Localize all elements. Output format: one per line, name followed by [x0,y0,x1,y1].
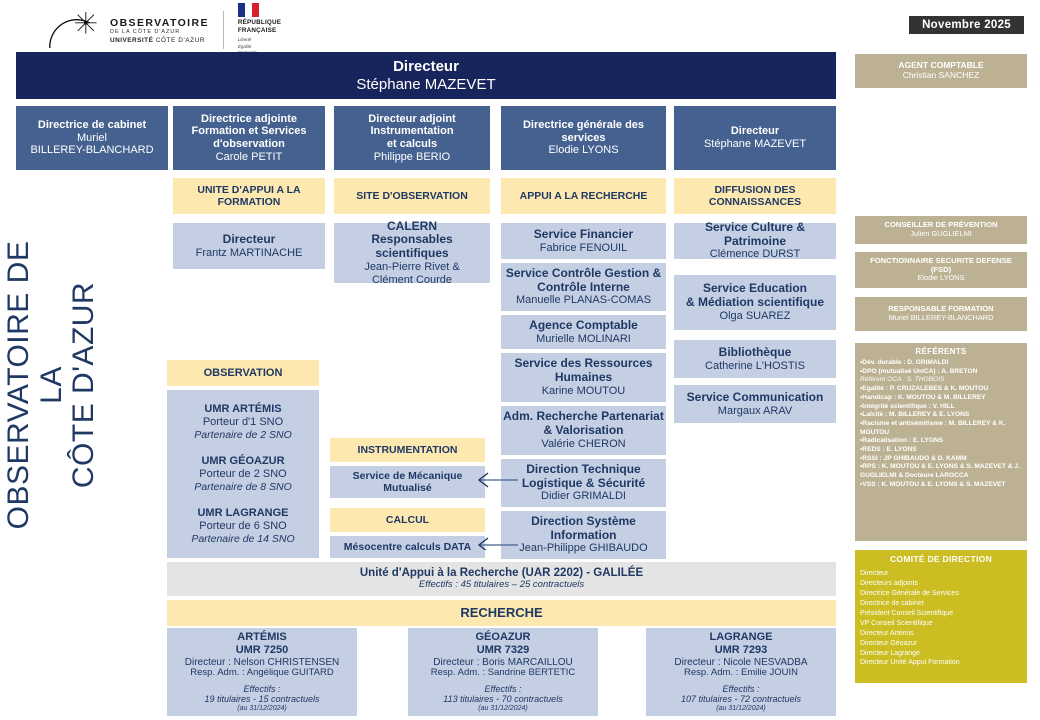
appui-recherche-header-label: APPUI A LA RECHERCHE [520,190,648,202]
director-role: Directeur [393,58,459,75]
diffusion-item-2: Bibliothèque Catherine L'HOSTIS [674,340,836,378]
lab-0-effectifs: 19 titulaires - 15 contractuels [204,694,319,704]
observation-header-label: OBSERVATION [204,367,283,380]
section-header-formation: UNITE D'APPUI A LA FORMATION [173,178,325,214]
formation-item-0: Directeur Frantz MARTINACHE [173,223,325,269]
lab-card-0: ARTÉMIS UMR 7250 Directeur : Nelson CHRI… [167,628,357,716]
observation-unit-2-name: UMR LAGRANGE [191,507,294,520]
observation-unit-0-partenaire: Partenaire de 2 SNO [194,429,291,441]
appui-item-5-sub: Didier GRIMALDI [541,490,626,503]
leadership-role-3: Directrice générale des services [523,119,644,144]
referents-title: RÉFÉRENTS [860,347,1022,356]
appui-item-3-title: Service des Ressources Humaines [514,357,652,385]
referent-line-10: •RSSI : JP GHIBAUDO & D. KAMM [860,455,1022,464]
diffusion-item-1-sub: Olga SUAREZ [720,310,791,323]
lab-2-effectifs-label: Effectifs : [722,684,759,694]
appui-item-1: Service Contrôle Gestion & Contrôle Inte… [501,263,666,311]
diffusion-item-3-sub: Margaux ARAV [718,405,792,418]
site-observation-header-label: SITE D'OBSERVATION [356,190,468,202]
lab-0-name: ARTÉMIS [237,631,287,644]
lab-0-umr: UMR 7250 [236,644,289,657]
lab-2-name: LAGRANGE [710,631,773,644]
comite-line-0: Directeur [860,569,1022,579]
responsable-formation-name: Muriel BILLEREY-BLANCHARD [889,314,994,323]
appui-item-6-title: Direction Système Information [531,515,636,543]
leadership-role-2: Directeur adjoint Instrumentation et cal… [368,113,455,151]
section-header-site-observation: SITE D'OBSERVATION [334,178,490,214]
leadership-card-3: Directrice générale des services Elodie … [501,106,666,170]
section-header-recherche: RECHERCHE [167,600,836,626]
calcul-header-label: CALCUL [386,514,429,526]
appui-item-2-sub: Murielle MOLINARI [536,333,631,346]
referent-line-4: •Handicap : K. MOUTOU & M. BILLEREY [860,394,1022,403]
comite-line-6: Directeur Artémis [860,629,1022,639]
institution-logo: OBSERVATOIRE DE LA CÔTE D'AZUR UNIVERSIT… [48,8,288,52]
referent-line-2: Référent OCA : S. THOBOIS [860,376,1022,385]
instrumentation-header-label: INSTRUMENTATION [358,444,458,456]
observation-unit-1-name: UMR GÉOAZUR [194,455,291,468]
uar-galilee-box: Unité d'Appui à la Recherche (UAR 2202) … [167,562,836,596]
section-header-observation: OBSERVATION [167,360,319,386]
observation-unit-1-porteur: Porteur de 2 SNO [194,468,291,481]
leadership-name-4: Stéphane MAZEVET [704,138,806,151]
diffusion-header-label: DIFFUSION DES CONNAISSANCES [709,184,801,208]
lab-0-date: (au 31/12/2024) [237,705,286,713]
diffusion-item-0-title: Service Culture & Patrimoine [674,221,836,249]
french-flag-icon [238,3,259,17]
recherche-header-label: RECHERCHE [460,606,542,621]
leadership-role-4: Directeur [731,125,779,138]
section-header-appui-recherche: APPUI A LA RECHERCHE [501,178,666,214]
diffusion-item-2-title: Bibliothèque [719,346,792,360]
lab-2-resp-adm: Resp. Adm. : Emilie JOUIN [684,668,798,679]
lab-2-date: (au 31/12/2024) [716,705,765,713]
section-header-calcul: CALCUL [330,508,485,532]
leadership-name-3: Elodie LYONS [548,144,618,157]
diffusion-item-2-sub: Catherine L'HOSTIS [705,360,805,373]
comite-line-5: VP Conseil Scientifique [860,619,1022,629]
comite-line-8: Directeur Lagrange [860,649,1022,659]
appui-item-6: Direction Système Information Jean-Phili… [501,511,666,559]
referent-line-8: •Radicalisation : E. LYONS [860,437,1022,446]
director-banner: Directeur Stéphane MAZEVET [16,52,836,99]
diffusion-item-1: Service Education & Médiation scientifiq… [674,275,836,330]
section-header-instrumentation: INSTRUMENTATION [330,438,485,462]
observation-unit-1: UMR GÉOAZUR Porteur de 2 SNO Partenaire … [194,455,291,492]
diffusion-item-3: Service Communication Margaux ARAV [674,385,836,423]
fsd-box: FONCTIONNAIRE SECURITE DEFENSE (FSD) Elo… [855,252,1027,288]
referent-line-3: •Egalité : P. CRUZALEBES & K. MOUTOU [860,385,1022,394]
leadership-role-1: Directrice adjointe Formation et Service… [192,113,307,151]
lab-0-effectifs-label: Effectifs : [243,684,280,694]
comite-line-1: Directeurs adjoints [860,579,1022,589]
appui-item-3-sub: Karine MOUTOU [542,385,626,398]
republique-francaise-logo: RÉPUBLIQUE FRANÇAISE Liberté Égalité Fra… [238,3,281,57]
conseiller-name: Julien GUGLIELMI [910,230,972,239]
referent-line-6: •Laïcité : M. BILLEREY & E. LYONS [860,411,1022,420]
referent-line-9: •REDS : E. LYONS [860,446,1022,455]
logo-divider [223,11,224,49]
lab-1-date: (au 31/12/2024) [478,705,527,713]
agent-comptable-box: AGENT COMPTABLE Christian SANCHEZ [855,54,1027,88]
leadership-card-2: Directeur adjoint Instrumentation et cal… [334,106,490,170]
page-title-vertical: OBSERVATOIRE DE LA CÔTE D'AZUR [7,235,97,535]
diffusion-item-0-sub: Clémence DURST [710,248,800,261]
instrumentation-item: Service de Mécanique Mutualisé [330,466,485,498]
lab-card-1: GÉOAZUR UMR 7329 Directeur : Boris MARCA… [408,628,598,716]
calcul-item: Mésocentre calculs DATA [330,536,485,558]
appui-item-2: Agence Comptable Murielle MOLINARI [501,315,666,349]
lab-1-name: GÉOAZUR [476,631,531,644]
appui-item-3: Service des Ressources Humaines Karine M… [501,353,666,402]
conseiller-prevention-box: CONSEILLER DE PRÉVENTION Julien GUGLIELM… [855,216,1027,244]
leadership-name-0: Muriel BILLEREY-BLANCHARD [30,132,153,157]
referent-line-0: •Dév. durable : D. GRIMALDI [860,359,1022,368]
uar-effectifs: Effectifs : 45 titulaires – 25 contractu… [419,580,584,591]
diffusion-item-1-title: Service Education & Médiation scientifiq… [686,282,824,310]
logo-line2: DE LA CÔTE D'AZUR [110,29,209,35]
referent-line-1: •DPO (mutualisé UniCA) : A. BRETON [860,368,1022,377]
referent-line-12: •VSS : K. MOUTOU & E. LYONS & S. MAZEVET [860,481,1022,490]
lab-card-2: LAGRANGE UMR 7293 Directeur : Nicole NES… [646,628,836,716]
site-observation-item-0-sub: Jean-Pierre Rivet & Clément Courde [364,261,459,286]
appui-item-4-sub: Valérie CHERON [541,438,625,451]
observation-unit-0-name: UMR ARTÉMIS [194,403,291,416]
comite-title: COMITÉ DE DIRECTION [860,554,1022,564]
lab-0-resp-adm: Resp. Adm. : Angélique GUITARD [190,668,333,679]
appui-item-5-title: Direction Technique Logistique & Sécurit… [522,463,645,491]
lab-1-effectifs-label: Effectifs : [484,684,521,694]
comite-line-4: Président Conseil Scientifique [860,609,1022,619]
observation-unit-0-porteur: Porteur d'1 SNO [194,416,291,429]
observation-unit-0: UMR ARTÉMIS Porteur d'1 SNO Partenaire d… [194,403,291,440]
logo-line3: UNIVERSITÉ CÔTE D'AZUR [110,37,209,44]
oca-star-logo-icon [48,10,102,50]
lab-2-umr: UMR 7293 [715,644,768,657]
referent-line-11: •RPS : K. MOUTOU & E. LYONS & S. MAZEVET… [860,463,1022,480]
site-observation-item-0: CALERN Responsables scientifiques Jean-P… [334,223,490,283]
leadership-name-2: Philippe BERIO [374,151,450,164]
appui-item-4-title: Adm. Recherche Partenariat & Valorisatio… [503,410,664,438]
appui-item-0: Service Financier Fabrice FENOUIL [501,223,666,259]
appui-item-0-sub: Fabrice FENOUIL [540,242,627,255]
leadership-card-0: Directrice de cabinet Muriel BILLEREY-BL… [16,106,168,170]
appui-item-0-title: Service Financier [534,228,633,242]
observation-unit-2-partenaire: Partenaire de 14 SNO [191,533,294,545]
leadership-card-4: Directeur Stéphane MAZEVET [674,106,836,170]
formation-item-0-title: Directeur [223,233,276,247]
referent-line-5: •Intégrité scientifique : V. HILL [860,403,1022,412]
calcul-item-label: Mésocentre calculs DATA [344,541,471,553]
formation-item-0-sub: Frantz MARTINACHE [196,247,303,260]
lab-1-effectifs: 113 titulaires - 70 contractuels [443,694,562,704]
appui-item-1-sub: Manuelle PLANAS-COMAS [516,294,651,307]
logo-line1: OBSERVATOIRE [110,17,209,29]
section-header-diffusion: DIFFUSION DES CONNAISSANCES [674,178,836,214]
fsd-role: FONCTIONNAIRE SECURITE DEFENSE (FSD) [870,257,1012,274]
referent-line-7: •Racisme et antisémitisme : M. BILLEREY … [860,420,1022,437]
diffusion-item-3-title: Service Communication [687,391,824,405]
observation-unit-1-partenaire: Partenaire de 8 SNO [194,481,291,493]
lab-2-effectifs: 107 titulaires - 72 contractuels [681,694,801,704]
rf-line1: RÉPUBLIQUE [238,19,281,27]
appui-item-5: Direction Technique Logistique & Sécurit… [501,459,666,507]
comite-line-9: Directeur Unité Appui Formation [860,658,1022,668]
logo-wordmark: OBSERVATOIRE DE LA CÔTE D'AZUR UNIVERSIT… [110,17,209,44]
connector-arrows [470,460,520,550]
site-observation-item-0-title: CALERN Responsables scientifiques [334,220,490,261]
leadership-role-0: Directrice de cabinet [38,119,146,132]
diffusion-item-0: Service Culture & Patrimoine Clémence DU… [674,223,836,259]
referents-box: RÉFÉRENTS •Dév. durable : D. GRIMALDI •D… [855,343,1027,541]
comite-direction-box: COMITÉ DE DIRECTION Directeur Directeurs… [855,550,1027,683]
appui-item-4: Adm. Recherche Partenariat & Valorisatio… [501,406,666,455]
agent-comptable-name: Christian SANCHEZ [903,71,980,81]
appui-item-2-title: Agence Comptable [529,319,638,333]
comite-line-2: Directrice Générale de Services [860,589,1022,599]
responsable-formation-box: RESPONSABLE FORMATION Muriel BILLEREY-BL… [855,297,1027,331]
formation-header-label: UNITE D'APPUI A LA FORMATION [197,184,300,208]
instrumentation-item-label: Service de Mécanique Mutualisé [353,470,463,494]
leadership-name-1: Carole PETIT [216,151,283,164]
leadership-card-1: Directrice adjointe Formation et Service… [173,106,325,170]
appui-item-1-title: Service Contrôle Gestion & Contrôle Inte… [506,267,661,295]
lab-1-resp-adm: Resp. Adm. : Sandrine BERTETIC [431,668,576,679]
comite-line-3: Directrice de cabinet [860,599,1022,609]
comite-line-7: Directeur Géoazur [860,639,1022,649]
observation-units-box: UMR ARTÉMIS Porteur d'1 SNO Partenaire d… [167,390,319,558]
org-chart-canvas: OBSERVATOIRE DE LA CÔTE D'AZUR UNIVERSIT… [0,0,1040,720]
observation-unit-2: UMR LAGRANGE Porteur de 6 SNO Partenaire… [191,507,294,544]
lab-1-umr: UMR 7329 [477,644,530,657]
date-badge: Novembre 2025 [909,16,1024,34]
appui-item-6-sub: Jean-Philippe GHIBAUDO [519,542,647,555]
director-name: Stéphane MAZEVET [356,76,495,93]
observation-unit-2-porteur: Porteur de 6 SNO [191,520,294,533]
rf-line2: FRANÇAISE [238,27,281,35]
fsd-name: Elodie LYONS [917,274,964,283]
